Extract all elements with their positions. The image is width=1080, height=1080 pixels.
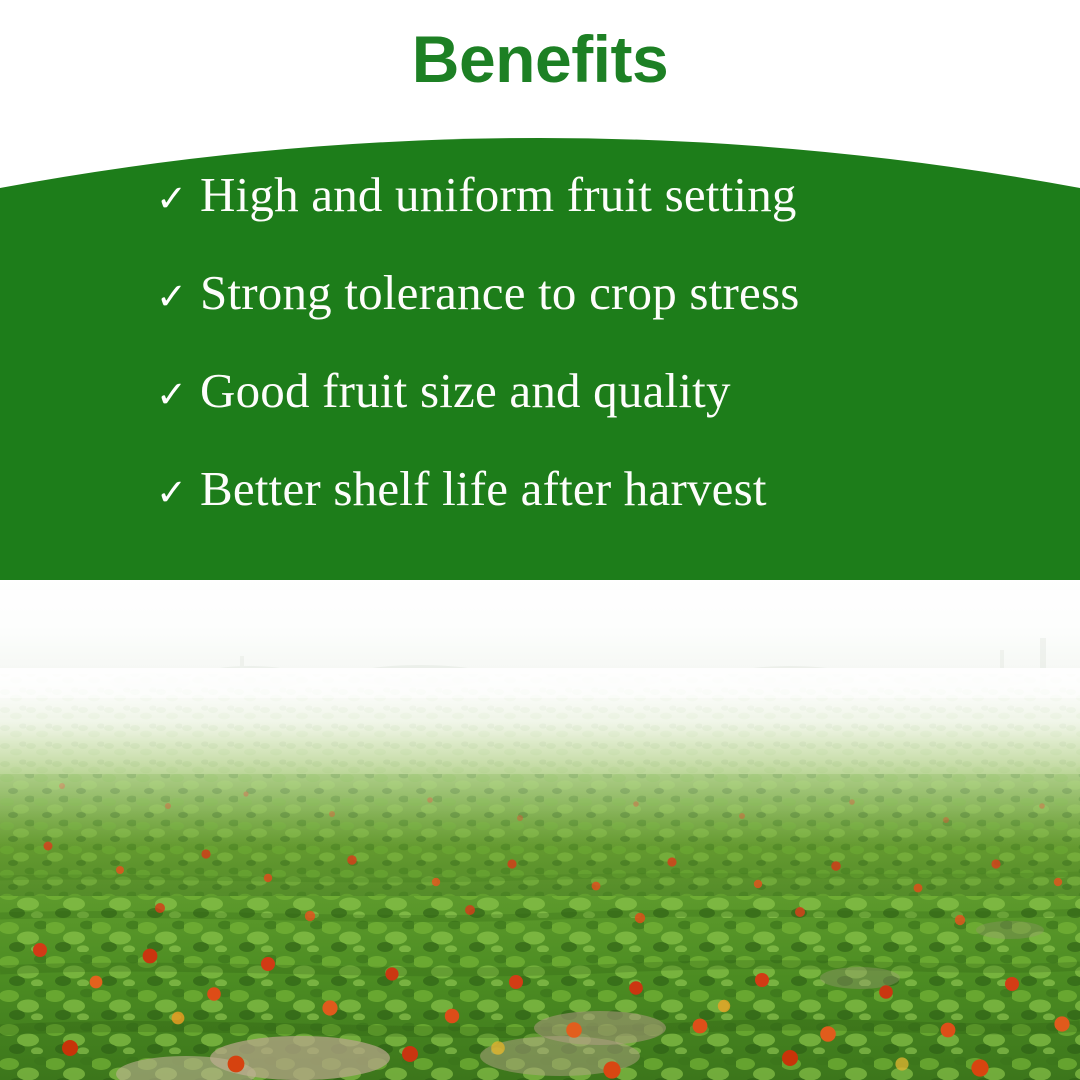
benefit-label: High and uniform fruit setting: [200, 170, 797, 219]
benefits-poster: Benefits ✓ High and uniform fruit settin…: [0, 0, 1080, 1080]
list-item: ✓ Good fruit size and quality: [0, 366, 1080, 464]
title-area: Benefits: [0, 0, 1080, 120]
benefit-label: Strong tolerance to crop stress: [200, 268, 800, 317]
check-icon: ✓: [156, 376, 200, 413]
check-icon: ✓: [156, 474, 200, 511]
list-item: ✓ Better shelf life after harvest: [0, 464, 1080, 562]
check-icon: ✓: [156, 278, 200, 315]
tomato-field-photo: Foggy tomato field with ripening red tom…: [0, 578, 1080, 1080]
list-item: ✓ High and uniform fruit setting: [0, 170, 1080, 268]
sky-bloom: [0, 578, 1080, 698]
benefits-list: ✓ High and uniform fruit setting ✓ Stron…: [0, 170, 1080, 562]
check-icon: ✓: [156, 180, 200, 217]
benefit-label: Good fruit size and quality: [200, 366, 731, 415]
page-title: Benefits: [412, 0, 668, 92]
benefit-label: Better shelf life after harvest: [200, 464, 767, 513]
list-item: ✓ Strong tolerance to crop stress: [0, 268, 1080, 366]
